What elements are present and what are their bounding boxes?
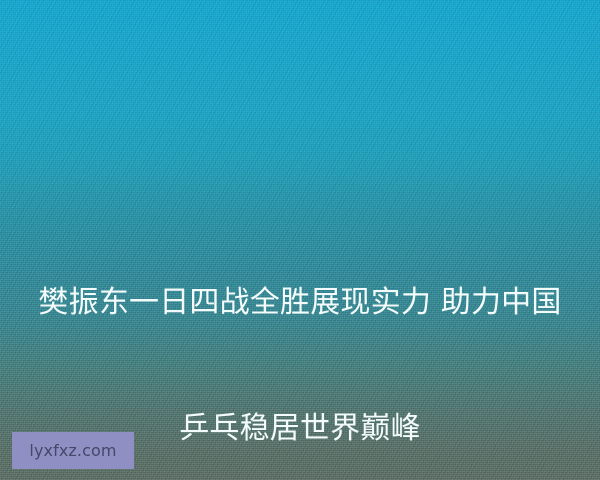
watermark-badge: lyxfxz.com — [12, 432, 134, 469]
headline-line-1: 樊振东一日四战全胜展现实力 助力中国 — [18, 282, 582, 324]
watermark-label: lyxfxz.com — [29, 443, 116, 459]
image-card: 樊振东一日四战全胜展现实力 助力中国 乒乓稳居世界巅峰 lyxfxz.com — [0, 0, 600, 480]
